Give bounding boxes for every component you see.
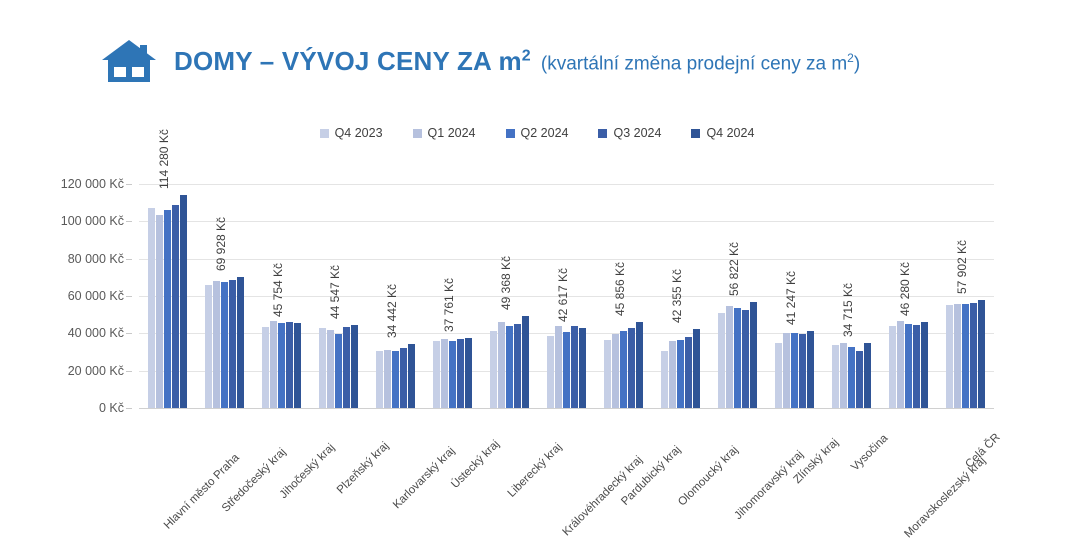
legend-label: Q1 2024 — [428, 126, 476, 140]
bar[interactable] — [506, 326, 513, 408]
legend-item[interactable]: Q4 2023 — [320, 126, 383, 140]
legend-item[interactable]: Q3 2024 — [598, 126, 661, 140]
x-axis-category: Plzeňský kraj — [310, 410, 367, 530]
y-axis-tick-label: 40 000 Kč — [68, 326, 124, 340]
legend-label: Q4 2023 — [335, 126, 383, 140]
bar[interactable] — [962, 304, 969, 408]
chart-subtitle-post: ) — [854, 54, 860, 75]
bar[interactable] — [734, 308, 741, 408]
bar[interactable] — [669, 341, 676, 408]
y-axis-tick-mark — [126, 333, 132, 334]
bar[interactable] — [294, 323, 301, 408]
bar[interactable] — [840, 343, 847, 408]
bar[interactable] — [490, 331, 497, 408]
bar[interactable] — [327, 330, 334, 408]
bar[interactable] — [677, 340, 684, 408]
bar[interactable] — [213, 281, 220, 408]
legend-label: Q4 2024 — [706, 126, 754, 140]
bar[interactable] — [229, 280, 236, 408]
bar-group: 41 247 Kč — [766, 184, 823, 408]
bar[interactable] — [221, 282, 228, 408]
bar[interactable] — [156, 215, 163, 408]
bar[interactable] — [791, 333, 798, 408]
bar-value-label: 57 902 Kč — [955, 240, 969, 294]
bar[interactable] — [612, 334, 619, 408]
y-axis-tick-label: 20 000 Kč — [68, 364, 124, 378]
bar[interactable] — [946, 305, 953, 408]
legend-item[interactable]: Q2 2024 — [506, 126, 569, 140]
bar[interactable] — [620, 331, 627, 408]
legend-swatch-icon — [413, 129, 422, 138]
y-axis-tick-mark — [126, 296, 132, 297]
bar-value-label: 34 442 Kč — [385, 284, 399, 338]
bar[interactable] — [799, 334, 806, 408]
legend-item[interactable]: Q4 2024 — [691, 126, 754, 140]
x-axis-category: Karlovarský kraj — [367, 410, 424, 530]
bar-group: 34 715 Kč — [823, 184, 880, 408]
bar-group: 37 761 Kč — [424, 184, 481, 408]
bar[interactable] — [905, 324, 912, 408]
plot-area: 114 280 Kč69 928 Kč45 754 Kč44 547 Kč34 … — [139, 184, 994, 408]
x-axis-category: Celá ČR — [937, 410, 994, 530]
bar-value-label: 49 368 Kč — [499, 256, 513, 310]
x-axis-category-labels: Hlavní město PrahaStředočeský krajJihoče… — [139, 410, 994, 530]
bar[interactable] — [335, 334, 342, 408]
bar-groups: 114 280 Kč69 928 Kč45 754 Kč44 547 Kč34 … — [139, 184, 994, 408]
bar[interactable] — [889, 326, 896, 409]
house-icon — [100, 38, 158, 84]
x-axis-line — [139, 408, 994, 409]
bar-value-label: 42 355 Kč — [670, 269, 684, 323]
bar[interactable] — [636, 322, 643, 408]
x-axis-category: Královéhradecký kraj — [538, 410, 595, 530]
y-axis-tick-label: 60 000 Kč — [68, 289, 124, 303]
legend-label: Q3 2024 — [613, 126, 661, 140]
bar-value-label: 56 822 Kč — [727, 242, 741, 296]
y-axis-tick-label: 0 Kč — [99, 401, 124, 415]
bar[interactable] — [555, 326, 562, 408]
bar-group: 69 928 Kč — [196, 184, 253, 408]
bar[interactable] — [400, 348, 407, 408]
page-title: DOMY – VÝVOJ CENY ZA m2 — [174, 46, 531, 77]
bar-group: 34 442 Kč — [367, 184, 424, 408]
bar[interactable] — [433, 341, 440, 408]
legend-swatch-icon — [598, 129, 607, 138]
bar-value-label: 69 928 Kč — [214, 217, 228, 271]
bar-group: 46 280 Kč — [880, 184, 937, 408]
x-axis-category: Zlínský kraj — [766, 410, 823, 530]
bar[interactable] — [172, 205, 179, 408]
x-axis-category: Liberecký kraj — [481, 410, 538, 530]
bar-value-label: 37 761 Kč — [442, 277, 456, 331]
chart-subtitle-superscript: 2 — [847, 51, 854, 65]
bar[interactable] — [547, 336, 554, 408]
chart-subtitle-pre: (kvartální změna prodejní ceny za m — [541, 54, 847, 75]
bar[interactable] — [970, 303, 977, 408]
bar[interactable] — [628, 328, 635, 408]
bar[interactable] — [205, 285, 212, 408]
bar-value-label: 34 715 Kč — [841, 283, 855, 337]
bar[interactable] — [457, 339, 464, 408]
bar[interactable] — [465, 338, 472, 408]
bar[interactable] — [579, 328, 586, 408]
bar[interactable] — [864, 343, 871, 408]
y-axis-tick-mark — [126, 408, 132, 409]
bar[interactable] — [807, 331, 814, 408]
bar[interactable] — [351, 325, 358, 408]
bar[interactable] — [750, 302, 757, 408]
title-block: DOMY – VÝVOJ CENY ZA m2 (kvartální změna… — [174, 46, 860, 77]
y-axis-tick-label: 80 000 Kč — [68, 252, 124, 266]
bar[interactable] — [262, 327, 269, 408]
bar[interactable] — [783, 333, 790, 408]
bar-group: 114 280 Kč — [139, 184, 196, 408]
bar[interactable] — [522, 316, 529, 408]
bar[interactable] — [449, 341, 456, 408]
bar[interactable] — [742, 310, 749, 408]
y-axis-tick-mark — [126, 184, 132, 185]
x-axis-category: Moravskoslezský kraj — [880, 410, 937, 530]
bar-group: 57 902 Kč — [937, 184, 994, 408]
y-axis: 0 Kč20 000 Kč40 000 Kč60 000 Kč80 000 Kč… — [0, 176, 132, 416]
bar[interactable] — [180, 195, 187, 408]
bar[interactable] — [319, 328, 326, 408]
bar[interactable] — [978, 300, 985, 408]
legend-swatch-icon — [691, 129, 700, 138]
bar[interactable] — [685, 337, 692, 408]
chart-header: DOMY – VÝVOJ CENY ZA m2 (kvartální změna… — [0, 30, 1074, 92]
x-axis-category: Olomoucký kraj — [652, 410, 709, 530]
bar-value-label: 46 280 Kč — [898, 262, 912, 316]
x-axis-category: Středočeský kraj — [196, 410, 253, 530]
bar[interactable] — [571, 326, 578, 408]
x-axis-category: Ústecký kraj — [424, 410, 481, 530]
bar[interactable] — [441, 339, 448, 408]
bar[interactable] — [237, 277, 244, 408]
bar[interactable] — [604, 340, 611, 408]
bar[interactable] — [270, 321, 277, 408]
bar-value-label: 114 280 Kč — [157, 129, 171, 189]
bar[interactable] — [164, 210, 171, 408]
x-axis-category: Vysočina — [823, 410, 880, 530]
bar[interactable] — [148, 208, 155, 408]
chart-title-superscript: 2 — [522, 47, 531, 64]
bar-value-label: 44 547 Kč — [328, 265, 342, 319]
legend-label: Q2 2024 — [521, 126, 569, 140]
x-axis-category-label: Celá ČR — [963, 431, 1002, 470]
bar[interactable] — [913, 325, 920, 408]
legend-swatch-icon — [320, 129, 329, 138]
x-axis-category: Pardubický kraj — [595, 410, 652, 530]
bar[interactable] — [376, 351, 383, 408]
bar[interactable] — [384, 350, 391, 408]
bar-group: 45 856 Kč — [595, 184, 652, 408]
x-axis-category: Jihočeský kraj — [253, 410, 310, 530]
bar[interactable] — [661, 351, 668, 408]
bar[interactable] — [408, 344, 415, 408]
y-axis-tick-mark — [126, 259, 132, 260]
bar[interactable] — [726, 306, 733, 408]
bar[interactable] — [718, 313, 725, 408]
bar[interactable] — [775, 343, 782, 408]
bar[interactable] — [563, 332, 570, 408]
bar-group: 56 822 Kč — [709, 184, 766, 408]
bar-group: 42 355 Kč — [652, 184, 709, 408]
chart-title-text: DOMY – VÝVOJ CENY ZA m — [174, 46, 522, 76]
bar[interactable] — [848, 347, 855, 408]
bar-value-label: 45 754 Kč — [271, 263, 285, 317]
bar[interactable] — [856, 351, 863, 408]
bar-value-label: 45 856 Kč — [613, 262, 627, 316]
bar[interactable] — [278, 323, 285, 408]
x-axis-category: Hlavní město Praha — [139, 410, 196, 530]
legend-swatch-icon — [506, 129, 515, 138]
bar-group: 42 617 Kč — [538, 184, 595, 408]
bar[interactable] — [514, 324, 521, 408]
y-axis-tick-mark — [126, 371, 132, 372]
y-axis-tick-label: 100 000 Kč — [61, 214, 124, 228]
bar[interactable] — [343, 327, 350, 408]
y-axis-tick-mark — [126, 221, 132, 222]
bar-value-label: 42 617 Kč — [556, 268, 570, 322]
bar[interactable] — [954, 304, 961, 408]
bar[interactable] — [392, 351, 399, 408]
bar[interactable] — [693, 329, 700, 408]
bar[interactable] — [498, 322, 505, 408]
legend-item[interactable]: Q1 2024 — [413, 126, 476, 140]
bar-value-label: 41 247 Kč — [784, 271, 798, 325]
bar[interactable] — [832, 345, 839, 408]
bar[interactable] — [286, 322, 293, 408]
bar-group: 49 368 Kč — [481, 184, 538, 408]
bar[interactable] — [921, 322, 928, 408]
bar-group: 45 754 Kč — [253, 184, 310, 408]
x-axis-category: Jihomoravský kraj — [709, 410, 766, 530]
chart-subtitle: (kvartální změna prodejní ceny za m2) — [541, 51, 860, 75]
bar[interactable] — [897, 321, 904, 408]
bar-group: 44 547 Kč — [310, 184, 367, 408]
y-axis-tick-label: 120 000 Kč — [61, 177, 124, 191]
